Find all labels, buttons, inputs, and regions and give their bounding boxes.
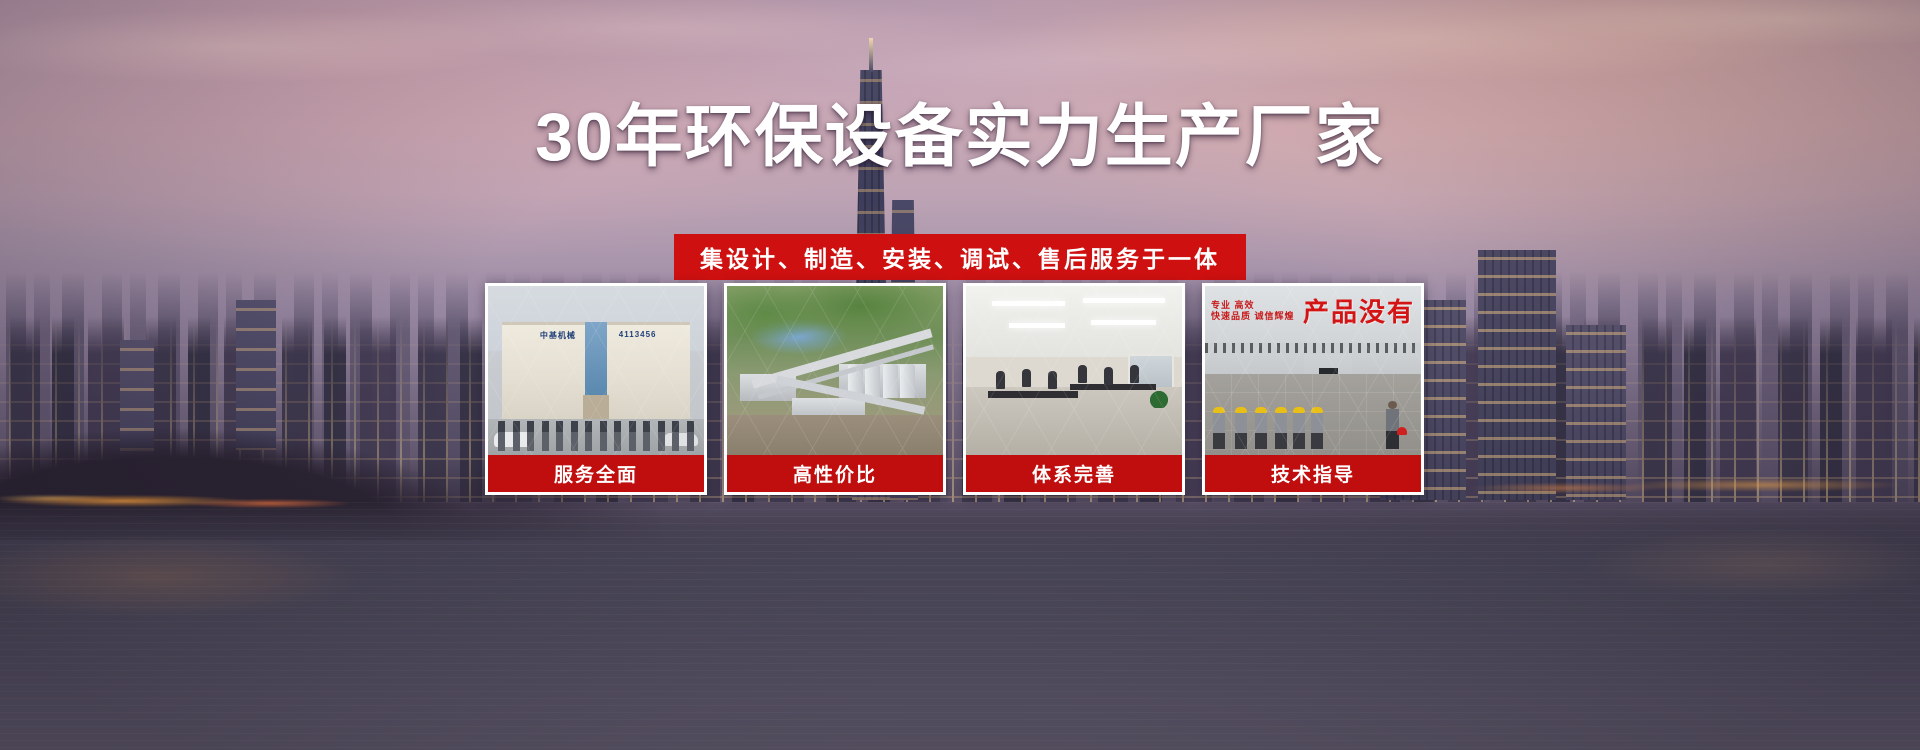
building-sign-text: 中基机械 [540, 330, 576, 341]
staff-lineup [498, 421, 694, 451]
factory-louvre [1205, 343, 1421, 353]
feature-card[interactable]: 高性价比 [724, 283, 946, 495]
ceiling-light [992, 301, 1065, 306]
factory-slogan-text: 专业 高效快速品质 诚信辉煌 [1211, 300, 1295, 322]
feature-card-list: 中基机械 4113456 服务全面 [485, 283, 1435, 495]
office-person [1022, 369, 1031, 387]
office-person [996, 371, 1005, 389]
worker-figure [1293, 407, 1305, 449]
hero-subtitle-text: 集设计、制造、安装、调试、售后服务于一体 [700, 240, 1220, 274]
card-photo-office [966, 286, 1182, 455]
office-person [1130, 365, 1139, 383]
storage-silo [865, 364, 880, 398]
worker-figure [1255, 407, 1267, 449]
worker-figure [1235, 407, 1247, 449]
ceiling-light [1091, 320, 1156, 325]
potted-plant [1150, 388, 1168, 408]
hero-content: 30年环保设备实力生产厂家 集设计、制造、安装、调试、售后服务于一体 中基机械 … [0, 0, 1920, 750]
office-person [1048, 371, 1057, 389]
card-caption: 技术指导 [1205, 455, 1421, 492]
card-photo-workers: 产品没有 专业 高效快速品质 诚信辉煌 [1205, 286, 1421, 455]
worker-figure [1213, 407, 1225, 449]
ceiling-light [1083, 298, 1165, 303]
red-helmet [1397, 427, 1407, 435]
card-caption: 体系完善 [966, 455, 1182, 492]
hero-subtitle-banner: 集设计、制造、安装、调试、售后服务于一体 [674, 234, 1246, 280]
card-photo-headquarters: 中基机械 4113456 [488, 286, 704, 455]
feature-card[interactable]: 体系完善 [963, 283, 1185, 495]
office-person [1104, 367, 1113, 385]
building-phone-text: 4113456 [619, 330, 657, 339]
worker-figure [1311, 407, 1323, 449]
storage-silo [900, 364, 915, 398]
factory-banner-text: 产品没有 [1303, 292, 1415, 329]
hero-banner: 30年环保设备实力生产厂家 集设计、制造、安装、调试、售后服务于一体 中基机械 … [0, 0, 1920, 750]
hero-headline: 30年环保设备实力生产厂家 [0, 103, 1920, 171]
office-person [1078, 365, 1087, 383]
feature-card[interactable]: 产品没有 专业 高效快速品质 诚信辉煌 技术指导 [1202, 283, 1424, 495]
ceiling-light [1009, 323, 1065, 328]
card-photo-aerial-plant [727, 286, 943, 455]
feature-card[interactable]: 中基机械 4113456 服务全面 [485, 283, 707, 495]
office-desk [1070, 384, 1156, 390]
storage-silo [883, 364, 898, 398]
worker-figure [1275, 407, 1287, 449]
plant-yard [727, 415, 943, 455]
building-entrance [583, 395, 609, 421]
card-caption: 高性价比 [727, 455, 943, 492]
card-caption: 服务全面 [488, 455, 704, 492]
office-desk [988, 391, 1079, 398]
supervisor-figure [1386, 401, 1399, 449]
